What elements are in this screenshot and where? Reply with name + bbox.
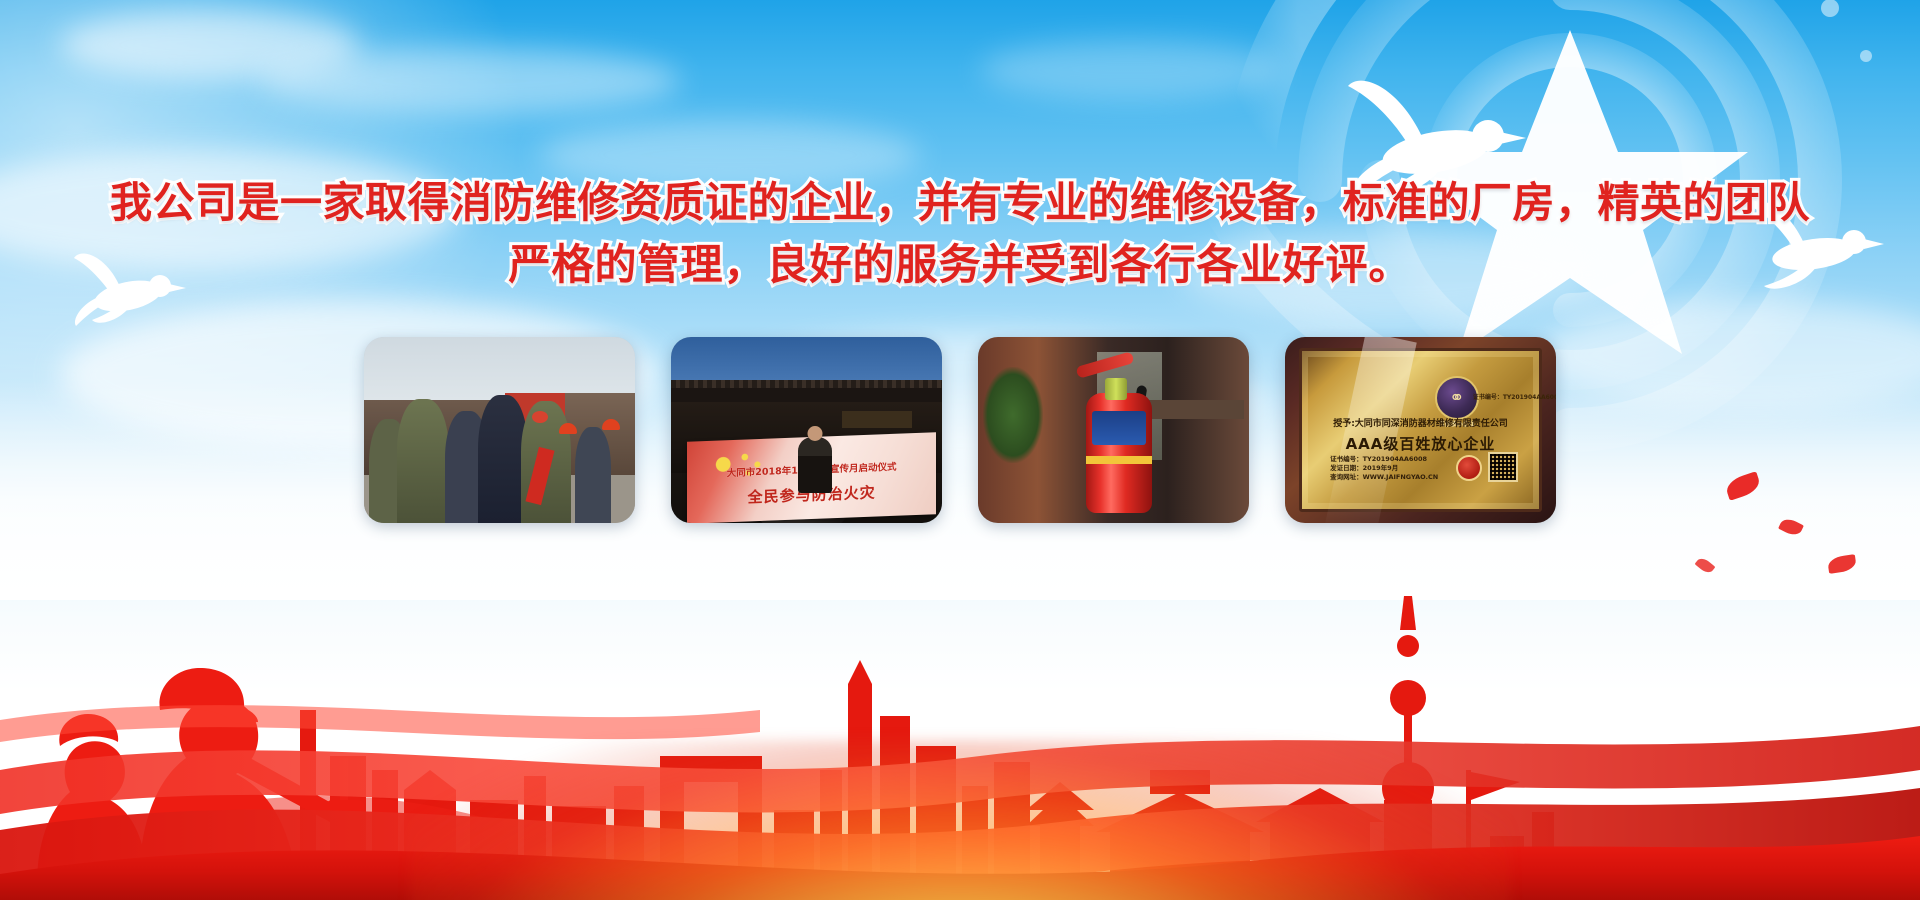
photo4-light-shine — [1324, 337, 1418, 523]
photo4-query-url: 查询网址：WWW.JAIFNGYAO.CN — [1330, 473, 1438, 482]
cloud — [980, 40, 1280, 100]
red-scene — [0, 470, 1920, 900]
headline-line-1: 我公司是一家取得消防维修资质证的企业，并有专业的维修设备，标准的厂房，精英的团队 — [0, 172, 1920, 234]
headline-line-2: 严格的管理，良好的服务并受到各行各业好评。 — [0, 234, 1920, 296]
photo-award-plaque[interactable]: ⚭ 百姓放心企业 证书编号：TY201904AA6008 授予:大同市同深消防器… — [1285, 337, 1556, 523]
photo3-plant — [983, 367, 1043, 464]
cloud — [260, 48, 680, 114]
photo3-extinguisher-neck — [1105, 378, 1127, 400]
photo-119-launch-ceremony[interactable]: 大同市2018年119消防宣传月启动仪式 全民参与防治火灾 — [671, 337, 942, 523]
photo2-speaker — [798, 437, 832, 493]
photo4-code-top: 证书编号：TY201904AA6008 — [1473, 392, 1556, 401]
promo-banner: 我公司是一家取得消防维修资质证的企业，并有专业的维修设备，标准的厂房，精英的团队… — [0, 0, 1920, 900]
photo4-award-to: 授予:大同市同深消防器材维修有限责任公司 — [1302, 416, 1540, 429]
photo4-plaque-frame: ⚭ 百姓放心企业 证书编号：TY201904AA6008 授予:大同市同深消防器… — [1299, 348, 1543, 512]
photo3-extinguisher-label — [1092, 411, 1146, 445]
photo3-shelf — [1141, 400, 1244, 419]
photo-officials-inspection[interactable] — [364, 337, 635, 523]
photo1-person — [575, 427, 611, 523]
photo4-cert-no: 证书编号：TY201904AA6008 — [1330, 455, 1438, 464]
photo4-seal-glyph: ⚭ — [1449, 388, 1464, 409]
headline: 我公司是一家取得消防维修资质证的企业，并有专业的维修设备，标准的厂房，精英的团队… — [0, 172, 1920, 296]
photo1-person — [397, 399, 449, 523]
photo2-plaque — [842, 411, 912, 428]
photo-strip: 大同市2018年119消防宣传月启动仪式 全民参与防治火灾 ⚭ — [0, 337, 1920, 523]
photo2-roof — [671, 385, 942, 402]
photo3-extinguisher-band — [1086, 456, 1152, 464]
photo4-issue-date: 发证日期：2019年9月 — [1330, 464, 1438, 473]
photo4-award-title: AAA级百姓放心企业 — [1302, 433, 1540, 454]
photo4-red-badge — [1456, 455, 1482, 481]
photo4-qr-code — [1488, 452, 1518, 482]
photo4-meta: 证书编号：TY201904AA6008 发证日期：2019年9月 查询网址：WW… — [1330, 455, 1438, 482]
photo-fire-extinguisher[interactable] — [978, 337, 1249, 523]
